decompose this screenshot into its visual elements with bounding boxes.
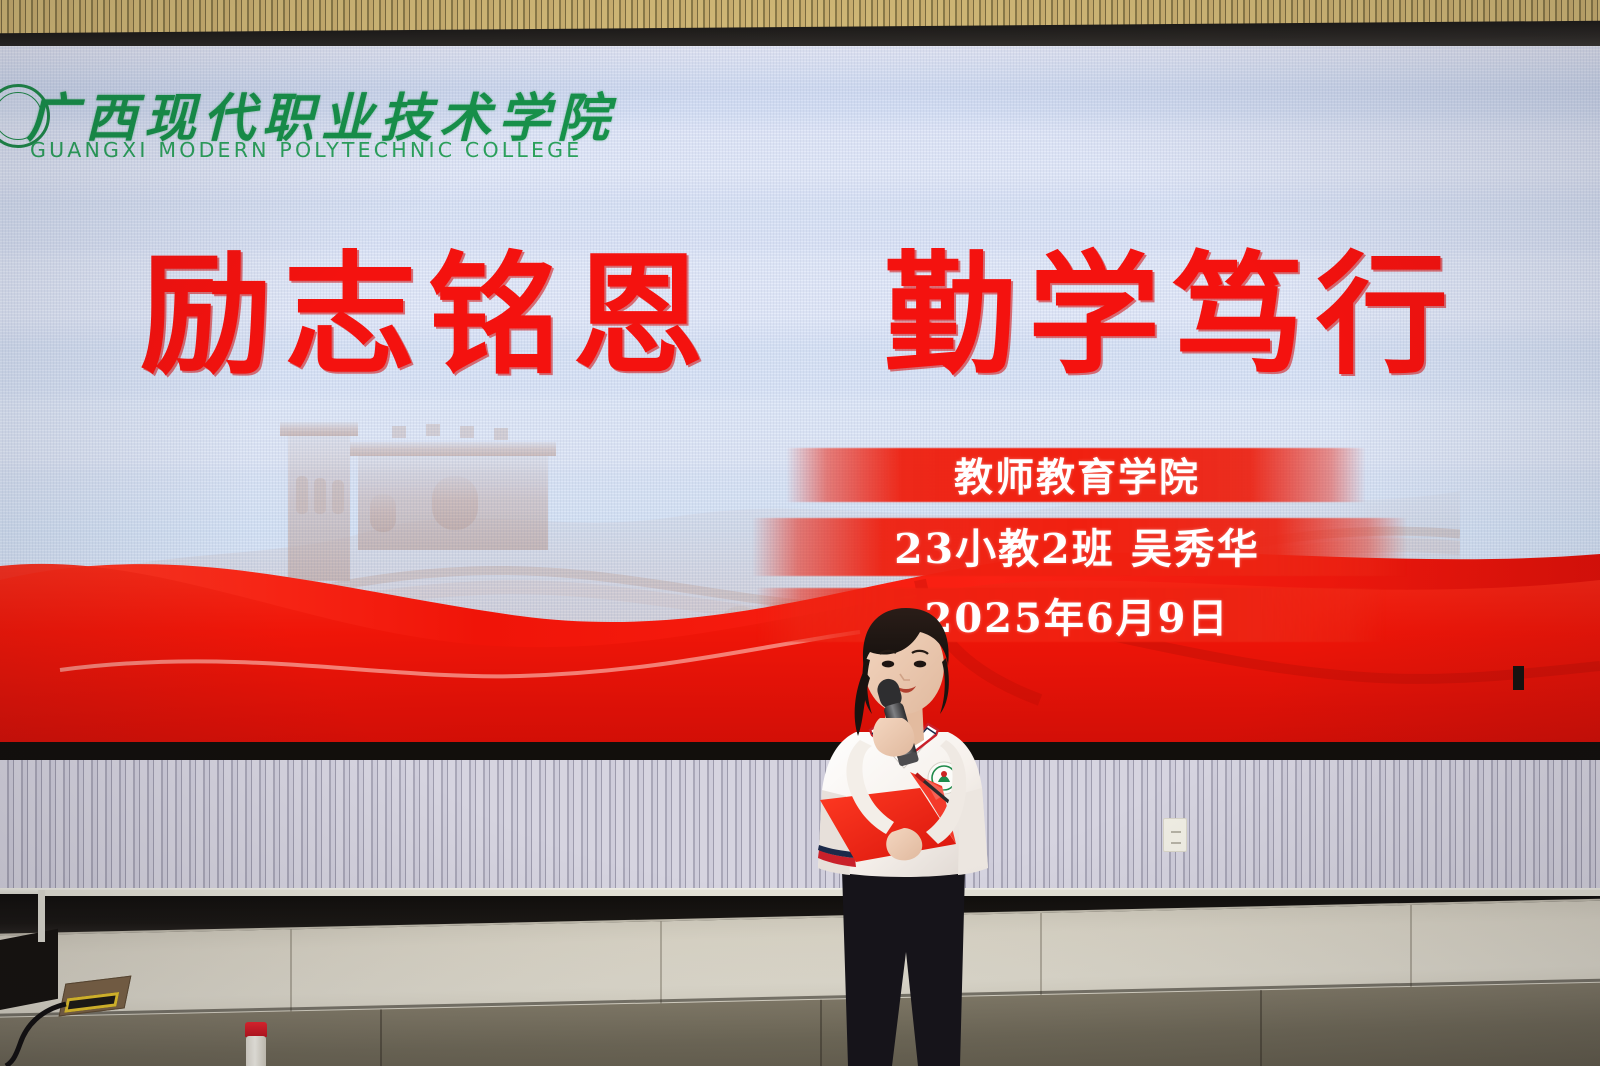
- subtitle-row-class: 23小教2班 吴秀华: [762, 514, 1392, 576]
- slogan-title: 励志铭恩 勤学笃行: [0, 246, 1600, 386]
- bottle-cap: [245, 1022, 267, 1037]
- student-speaker: [760, 600, 1050, 1066]
- subtitle-department: 教师教育学院: [954, 447, 1200, 503]
- water-bottle[interactable]: [243, 1022, 269, 1066]
- college-name-en: GUANGXI MODERN POLYTECHNIC COLLEGE: [30, 138, 582, 162]
- bottle-body: [246, 1036, 266, 1066]
- power-cable: [0, 1000, 80, 1066]
- slogan-part-2: 勤学笃行: [884, 238, 1460, 393]
- led-dead-pixel-block: [1513, 666, 1524, 690]
- slogan-part-1: 励志铭恩: [140, 238, 716, 393]
- stage-left-shadow: [0, 929, 58, 1010]
- subtitle-row-department: 教师教育学院: [762, 444, 1392, 506]
- subtitle-class-name: 23小教2班 吴秀华: [894, 515, 1260, 575]
- auditorium-stage-photo: 广西现代职业技术学院 GUANGXI MODERN POLYTECHNIC CO…: [0, 0, 1600, 1066]
- wall-switch-icon[interactable]: [1163, 818, 1187, 852]
- college-logo: 广西现代职业技术学院 GUANGXI MODERN POLYTECHNIC CO…: [2, 74, 612, 184]
- stage-recess-left-post: [38, 890, 45, 942]
